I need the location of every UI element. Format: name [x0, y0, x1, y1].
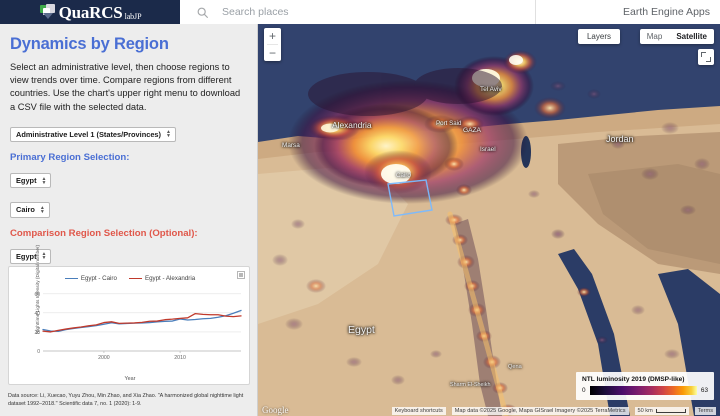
map-data-attribution: Map data ©2025 Google, Mapa GISrael Imag…	[452, 407, 629, 415]
map-viewport[interactable]: AlexandriaMarsaPort SaidTel AvivGAZAIsra…	[258, 24, 720, 416]
search-icon	[196, 6, 209, 19]
quarcs-logo-icon	[39, 4, 57, 20]
chart-x-axis-label: Year	[9, 376, 251, 382]
chart-legend-item-1: Egypt - Alexandria	[129, 275, 195, 282]
basemap-satellite-button[interactable]: Satellite	[669, 29, 714, 44]
svg-text:40: 40	[34, 311, 40, 317]
brand-subtitle: labJP	[125, 12, 142, 21]
primary-region-select[interactable]: Cairo ▲▼	[10, 202, 50, 217]
primary-region-label: Primary Region Selection:	[10, 152, 247, 163]
chevron-updown-icon: ▲▼	[42, 177, 47, 185]
comparison-country-value: Egypt	[16, 252, 37, 261]
svg-text:2000: 2000	[98, 355, 110, 361]
brand-name: QuaRCS	[59, 4, 123, 21]
primary-country-value: Egypt	[16, 176, 37, 185]
earth-engine-app: QuaRCS labJP Search places Earth Engine …	[0, 0, 720, 416]
map-scale-indicator: 50 km	[635, 407, 689, 415]
fullscreen-icon[interactable]	[698, 49, 714, 65]
ntl-legend-max: 63	[701, 387, 708, 394]
basemap-map-button[interactable]: Map	[640, 29, 670, 44]
ntl-colorbar	[590, 386, 697, 395]
page-description: Select an administrative level, then cho…	[10, 61, 247, 114]
primary-region-value: Cairo	[16, 205, 35, 214]
svg-text:60: 60	[34, 292, 40, 298]
basemap-toggle[interactable]: Map Satellite	[640, 29, 714, 44]
top-bar: QuaRCS labJP Search places Earth Engine …	[0, 0, 720, 24]
chevron-updown-icon: ▲▼	[42, 252, 47, 260]
keyboard-shortcuts-link[interactable]: Keyboard shortcuts	[392, 407, 446, 415]
zoom-in-button[interactable]: +	[264, 28, 281, 44]
map-scale-label: 50 km	[638, 408, 653, 414]
data-source-citation: Data source: Li, Xuecao, Yuyu Zhou, Min …	[8, 392, 252, 408]
chart-legend-label: Egypt - Alexandria	[145, 275, 195, 282]
ntl-legend: NTL luminosity 2019 (DMSP-like) 0 63	[576, 372, 714, 400]
zoom-out-button[interactable]: −	[264, 45, 281, 61]
chart-legend: Egypt - CairoEgypt - Alexandria	[9, 275, 251, 282]
layers-button[interactable]: Layers	[578, 29, 620, 44]
chevron-updown-icon: ▲▼	[166, 130, 171, 138]
chart-plot-area: Nighttime Lights Intensity (Digital numb…	[9, 285, 251, 365]
comparison-country-select[interactable]: Egypt ▲▼	[10, 249, 51, 264]
svg-text:20: 20	[34, 330, 40, 336]
earth-engine-apps-label: Earth Engine Apps	[536, 0, 720, 24]
admin-level-select[interactable]: Administrative Level 1 (States/Provinces…	[10, 127, 176, 142]
comparison-region-label: Comparison Region Selection (Optional):	[10, 228, 247, 239]
admin-level-value: Administrative Level 1 (States/Provinces…	[16, 130, 161, 139]
svg-text:0: 0	[37, 349, 40, 355]
chart-legend-item-0: Egypt - Cairo	[65, 275, 117, 282]
primary-country-select[interactable]: Egypt ▲▼	[10, 173, 51, 188]
map-attribution-bar: Keyboard shortcuts Map data ©2025 Google…	[258, 405, 720, 416]
time-series-chart[interactable]: Egypt - CairoEgypt - Alexandria Nighttim…	[8, 266, 250, 385]
legend-swatch-icon	[65, 278, 78, 280]
terms-link[interactable]: Terms	[695, 407, 716, 415]
search-input[interactable]: Search places	[180, 0, 536, 24]
scale-bar-icon	[656, 409, 686, 413]
chart-svg: 020406020002010	[9, 285, 251, 365]
page-title: Dynamics by Region	[10, 35, 247, 54]
chevron-updown-icon: ▲▼	[40, 206, 45, 214]
zoom-controls[interactable]: + −	[264, 28, 281, 61]
svg-text:2010: 2010	[174, 355, 186, 361]
search-placeholder: Search places	[222, 6, 289, 18]
app-brand: QuaRCS labJP	[0, 0, 180, 24]
control-sidebar: Dynamics by Region Select an administrat…	[0, 24, 258, 416]
citation-block: Data source: Li, Xuecao, Yuyu Zhou, Min …	[8, 392, 252, 416]
legend-swatch-icon	[129, 278, 142, 280]
chart-legend-label: Egypt - Cairo	[81, 275, 117, 282]
map-imagery	[258, 24, 720, 416]
ntl-legend-min: 0	[582, 387, 586, 394]
ntl-legend-title: NTL luminosity 2019 (DMSP-like)	[582, 376, 708, 383]
